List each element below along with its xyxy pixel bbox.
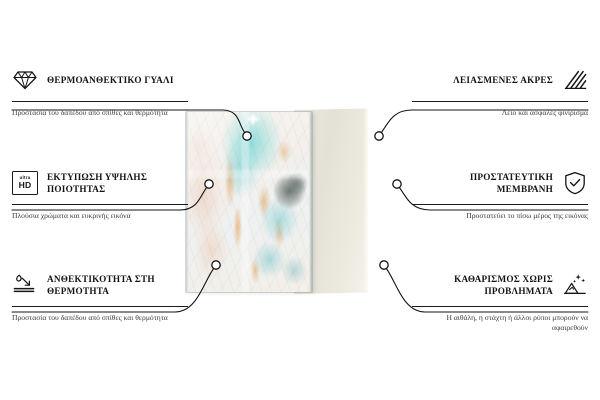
diamond-icon <box>12 67 38 93</box>
feature-header: ΑΝΘΕΚΤΙΚΟΤΗΤΑ ΣΤΗ ΘΕΡΜΟΤΗΤΑ <box>12 268 188 302</box>
feature-description: Η αιθάλη, η στάχτη ή άλλοι ρύποι μπορούν… <box>412 313 588 334</box>
feature-heat-resistance: ΑΝΘΕΚΤΙΚΟΤΗΤΑ ΣΤΗ ΘΕΡΜΟΤΗΤΑ Προστασία το… <box>12 268 188 323</box>
marble-vein-texture <box>186 112 312 292</box>
feature-divider <box>12 204 188 205</box>
feature-description: Λείο και ασφαλές φινίρισμα <box>412 108 588 118</box>
hd-badge: ultra HD <box>12 171 38 195</box>
ultra-hd-badge-icon: ultra HD <box>12 170 38 196</box>
sparkle-clean-icon <box>562 272 588 298</box>
feature-description: Προστασία του δαπέδου από σπίθες και θερ… <box>12 313 188 323</box>
feature-divider <box>412 204 588 205</box>
feature-header: ΛΕΙΑΣΜΕΝΕΣ ΑΚΡΕΣ <box>412 63 588 97</box>
feature-divider <box>412 306 588 307</box>
feature-easy-cleaning: ΚΑΘΑΡΙΣΜΟΣ ΧΩΡΙΣ ΠΡΟΒΛΗΜΑΤΑ Η αιθάλη, η … <box>412 268 588 334</box>
diagonal-lines-icon <box>562 67 588 93</box>
product-stage <box>186 112 406 292</box>
feature-title: ΘΕΡΜΟΑΝΘΕΚΤΙΚΟ ΓΥΑΛΙ <box>47 74 188 86</box>
feature-divider <box>12 306 188 307</box>
feature-divider <box>12 101 188 102</box>
infographic-canvas: ΘΕΡΜΟΑΝΘΕΚΤΙΚΟ ΓΥΑΛΙ Προστασία του δαπέδ… <box>0 0 600 400</box>
feature-heat-resistant-glass: ΘΕΡΜΟΑΝΘΕΚΤΙΚΟ ΓΥΑΛΙ Προστασία του δαπέδ… <box>12 63 188 118</box>
hd-badge-hd-label: HD <box>19 181 32 190</box>
feature-header: ultra HD ΕΚΤΥΠΩΣΗ ΥΨΗΛΗΣ ΠΟΙΟΤΗΤΑΣ <box>12 166 188 200</box>
feature-title: ΕΚΤΥΠΩΣΗ ΥΨΗΛΗΣ ΠΟΙΟΤΗΤΑΣ <box>47 171 188 196</box>
glass-splashback-panel <box>186 112 312 292</box>
feature-header: ΠΡΟΣΤΑΤΕΥΤΙΚΗ ΜΕΜΒΡΑΝΗ <box>412 166 588 200</box>
shield-check-icon <box>562 170 588 196</box>
feature-title: ΚΑΘΑΡΙΣΜΟΣ ΧΩΡΙΣ ΠΡΟΒΛΗΜΑΤΑ <box>412 273 553 298</box>
feature-header: ΘΕΡΜΟΑΝΘΕΚΤΙΚΟ ΓΥΑΛΙ <box>12 63 188 97</box>
feature-description: Προστασία του δαπέδου από σπίθες και θερ… <box>12 108 188 118</box>
flame-heat-icon <box>12 272 38 298</box>
feature-divider <box>412 101 588 102</box>
feature-protective-film: ΠΡΟΣΤΑΤΕΥΤΙΚΗ ΜΕΜΒΡΑΝΗ Προστατεύει το πί… <box>412 166 588 221</box>
feature-description: Προστατεύει το πίσω μέρος της εικόνας <box>412 211 588 221</box>
feature-header: ΚΑΘΑΡΙΣΜΟΣ ΧΩΡΙΣ ΠΡΟΒΛΗΜΑΤΑ <box>412 268 588 302</box>
feature-description: Πλούσια χρώματα και ευκρινής εικόνα <box>12 211 188 221</box>
feature-high-quality-print: ultra HD ΕΚΤΥΠΩΣΗ ΥΨΗΛΗΣ ΠΟΙΟΤΗΤΑΣ Πλούσ… <box>12 166 188 221</box>
feature-title: ΑΝΘΕΚΤΙΚΟΤΗΤΑ ΣΤΗ ΘΕΡΜΟΤΗΤΑ <box>47 273 188 298</box>
feature-title: ΠΡΟΣΤΑΤΕΥΤΙΚΗ ΜΕΜΒΡΑΝΗ <box>412 171 553 196</box>
feature-smooth-edges: ΛΕΙΑΣΜΕΝΕΣ ΑΚΡΕΣ Λείο και ασφαλές φινίρι… <box>412 63 588 118</box>
feature-title: ΛΕΙΑΣΜΕΝΕΣ ΑΚΡΕΣ <box>412 74 553 86</box>
